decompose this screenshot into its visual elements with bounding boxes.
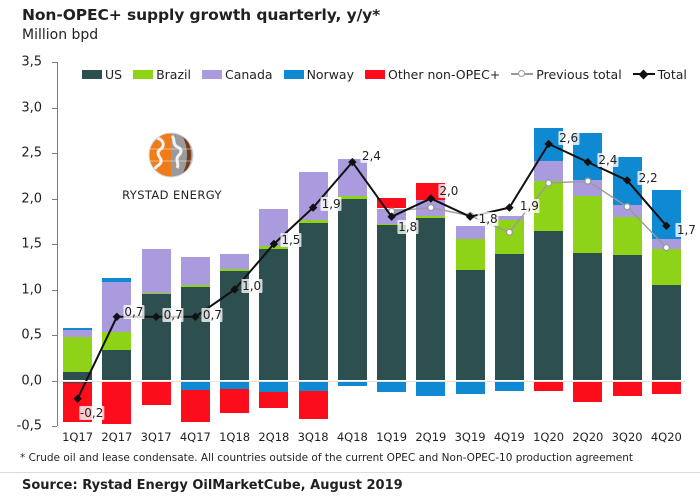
- y-axis-tick-label: 3,5: [21, 55, 42, 70]
- y-axis-tick: [52, 199, 57, 200]
- legend-circle-marker-icon: [511, 69, 533, 79]
- chart-legend: USBrazilCanadaNorwayOther non-OPEC+Previ…: [82, 66, 693, 82]
- data-point-label: 1,9: [321, 197, 342, 211]
- data-point-marker[interactable]: [546, 180, 552, 186]
- chart-footnote: * Crude oil and lease condensate. All co…: [20, 452, 690, 464]
- legend-item[interactable]: Previous total: [511, 67, 621, 82]
- y-axis-tick-label: 1,5: [21, 237, 42, 252]
- data-point-label: 1,7: [676, 223, 697, 237]
- x-axis-tick-label: 4Q18: [337, 430, 368, 444]
- y-axis-tick: [52, 290, 57, 291]
- y-axis-tick-label: 0,0: [21, 373, 42, 388]
- chart-subtitle: Million bpd: [22, 27, 98, 43]
- data-point-label: -0,2: [79, 406, 104, 420]
- legend-label: Previous total: [536, 67, 621, 82]
- data-point-label: 0,7: [202, 308, 223, 322]
- x-axis-tick-label: 1Q19: [376, 430, 407, 444]
- y-axis-tick: [52, 426, 57, 427]
- legend-label: Brazil: [156, 67, 191, 82]
- data-point-label: 0,7: [123, 305, 144, 319]
- x-axis-tick-label: 3Q18: [298, 430, 329, 444]
- y-axis-tick-label: 2,5: [21, 146, 42, 161]
- legend-swatch-icon: [133, 70, 153, 79]
- x-axis-tick-label: 4Q17: [180, 430, 211, 444]
- legend-label: Norway: [307, 67, 354, 82]
- data-point-label: 2,2: [638, 171, 659, 185]
- legend-label: Canada: [225, 67, 273, 82]
- data-point-marker[interactable]: [113, 313, 121, 321]
- data-point-marker[interactable]: [152, 313, 160, 321]
- data-point-label: 1,0: [241, 279, 262, 293]
- series-line-previous-total: [392, 181, 667, 247]
- rystad-logo-text: RYSTAD ENERGY: [110, 188, 234, 202]
- data-point-label: 1,8: [397, 220, 418, 234]
- data-point-label: 0,7: [163, 308, 184, 322]
- data-point-label: 1,9: [519, 199, 540, 213]
- y-axis-tick-label: 1,0: [21, 282, 42, 297]
- x-axis-tick-label: 3Q20: [612, 430, 643, 444]
- x-axis-labels: 1Q172Q173Q174Q171Q182Q183Q184Q181Q192Q19…: [58, 430, 686, 446]
- data-point-label: 2,0: [438, 184, 459, 198]
- y-axis-tick: [52, 153, 57, 154]
- x-axis-tick-label: 1Q17: [62, 430, 93, 444]
- plot-area: -0,20,70,70,71,01,51,92,41,82,01,81,92,6…: [58, 62, 686, 426]
- x-axis-tick-label: 2Q18: [258, 430, 289, 444]
- y-axis-tick-label: -0,5: [17, 419, 42, 434]
- legend-item[interactable]: Norway: [284, 67, 354, 82]
- source-text: Source: Rystad Energy OilMarketCube, Aug…: [22, 478, 403, 493]
- chart-page: Non-OPEC+ supply growth quarterly, y/y* …: [0, 0, 700, 501]
- y-axis-tick-label: 0,5: [21, 328, 42, 343]
- legend-item[interactable]: Total: [633, 67, 687, 82]
- y-axis-tick-label: 2,0: [21, 191, 42, 206]
- data-point-marker[interactable]: [663, 245, 669, 251]
- legend-item[interactable]: Brazil: [133, 67, 191, 82]
- data-point-marker[interactable]: [585, 178, 591, 184]
- y-axis-tick: [52, 335, 57, 336]
- data-point-label: 1,8: [478, 212, 499, 226]
- data-point-marker[interactable]: [506, 229, 512, 235]
- x-axis-tick-label: 1Q18: [219, 430, 250, 444]
- x-axis-tick-label: 3Q17: [141, 430, 172, 444]
- legend-swatch-icon: [365, 70, 385, 79]
- legend-label: Other non-OPEC+: [388, 67, 500, 82]
- y-axis-labels: -0,50,00,51,01,52,02,53,03,5: [0, 62, 52, 426]
- data-point-label: 2,6: [558, 131, 579, 145]
- y-axis-tick-label: 3,0: [21, 100, 42, 115]
- legend-item[interactable]: Other non-OPEC+: [365, 67, 500, 82]
- chart-title: Non-OPEC+ supply growth quarterly, y/y*: [22, 6, 380, 24]
- legend-item[interactable]: Canada: [202, 67, 273, 82]
- legend-label: US: [105, 67, 122, 82]
- y-axis-tick: [52, 62, 57, 63]
- x-axis-tick-label: 2Q20: [572, 430, 603, 444]
- data-point-marker[interactable]: [624, 204, 630, 210]
- x-axis-tick-label: 2Q17: [101, 430, 132, 444]
- rystad-logo-icon: [148, 132, 194, 178]
- legend-swatch-icon: [284, 70, 304, 79]
- data-point-label: 2,4: [361, 149, 382, 163]
- x-axis-tick-label: 1Q20: [533, 430, 564, 444]
- data-point-marker[interactable]: [73, 395, 81, 403]
- y-axis-tick: [52, 244, 57, 245]
- y-axis-tick: [52, 381, 57, 382]
- legend-item[interactable]: US: [82, 67, 122, 82]
- x-axis-tick-label: 4Q19: [494, 430, 525, 444]
- data-point-marker[interactable]: [428, 205, 434, 211]
- x-axis-tick-label: 3Q19: [455, 430, 486, 444]
- legend-swatch-icon: [82, 70, 102, 79]
- data-point-marker[interactable]: [584, 158, 592, 166]
- legend-diamond-marker-icon: [633, 69, 655, 79]
- legend-swatch-icon: [202, 70, 222, 79]
- x-axis-tick-label: 4Q20: [651, 430, 682, 444]
- data-point-label: 2,4: [597, 153, 618, 167]
- x-axis-tick-label: 2Q19: [415, 430, 446, 444]
- line-overlay: [58, 62, 686, 426]
- legend-label: Total: [658, 67, 687, 82]
- data-point-label: 1,5: [280, 233, 301, 247]
- y-axis-tick: [52, 108, 57, 109]
- zero-gridline: [58, 381, 686, 382]
- data-point-marker[interactable]: [427, 194, 435, 202]
